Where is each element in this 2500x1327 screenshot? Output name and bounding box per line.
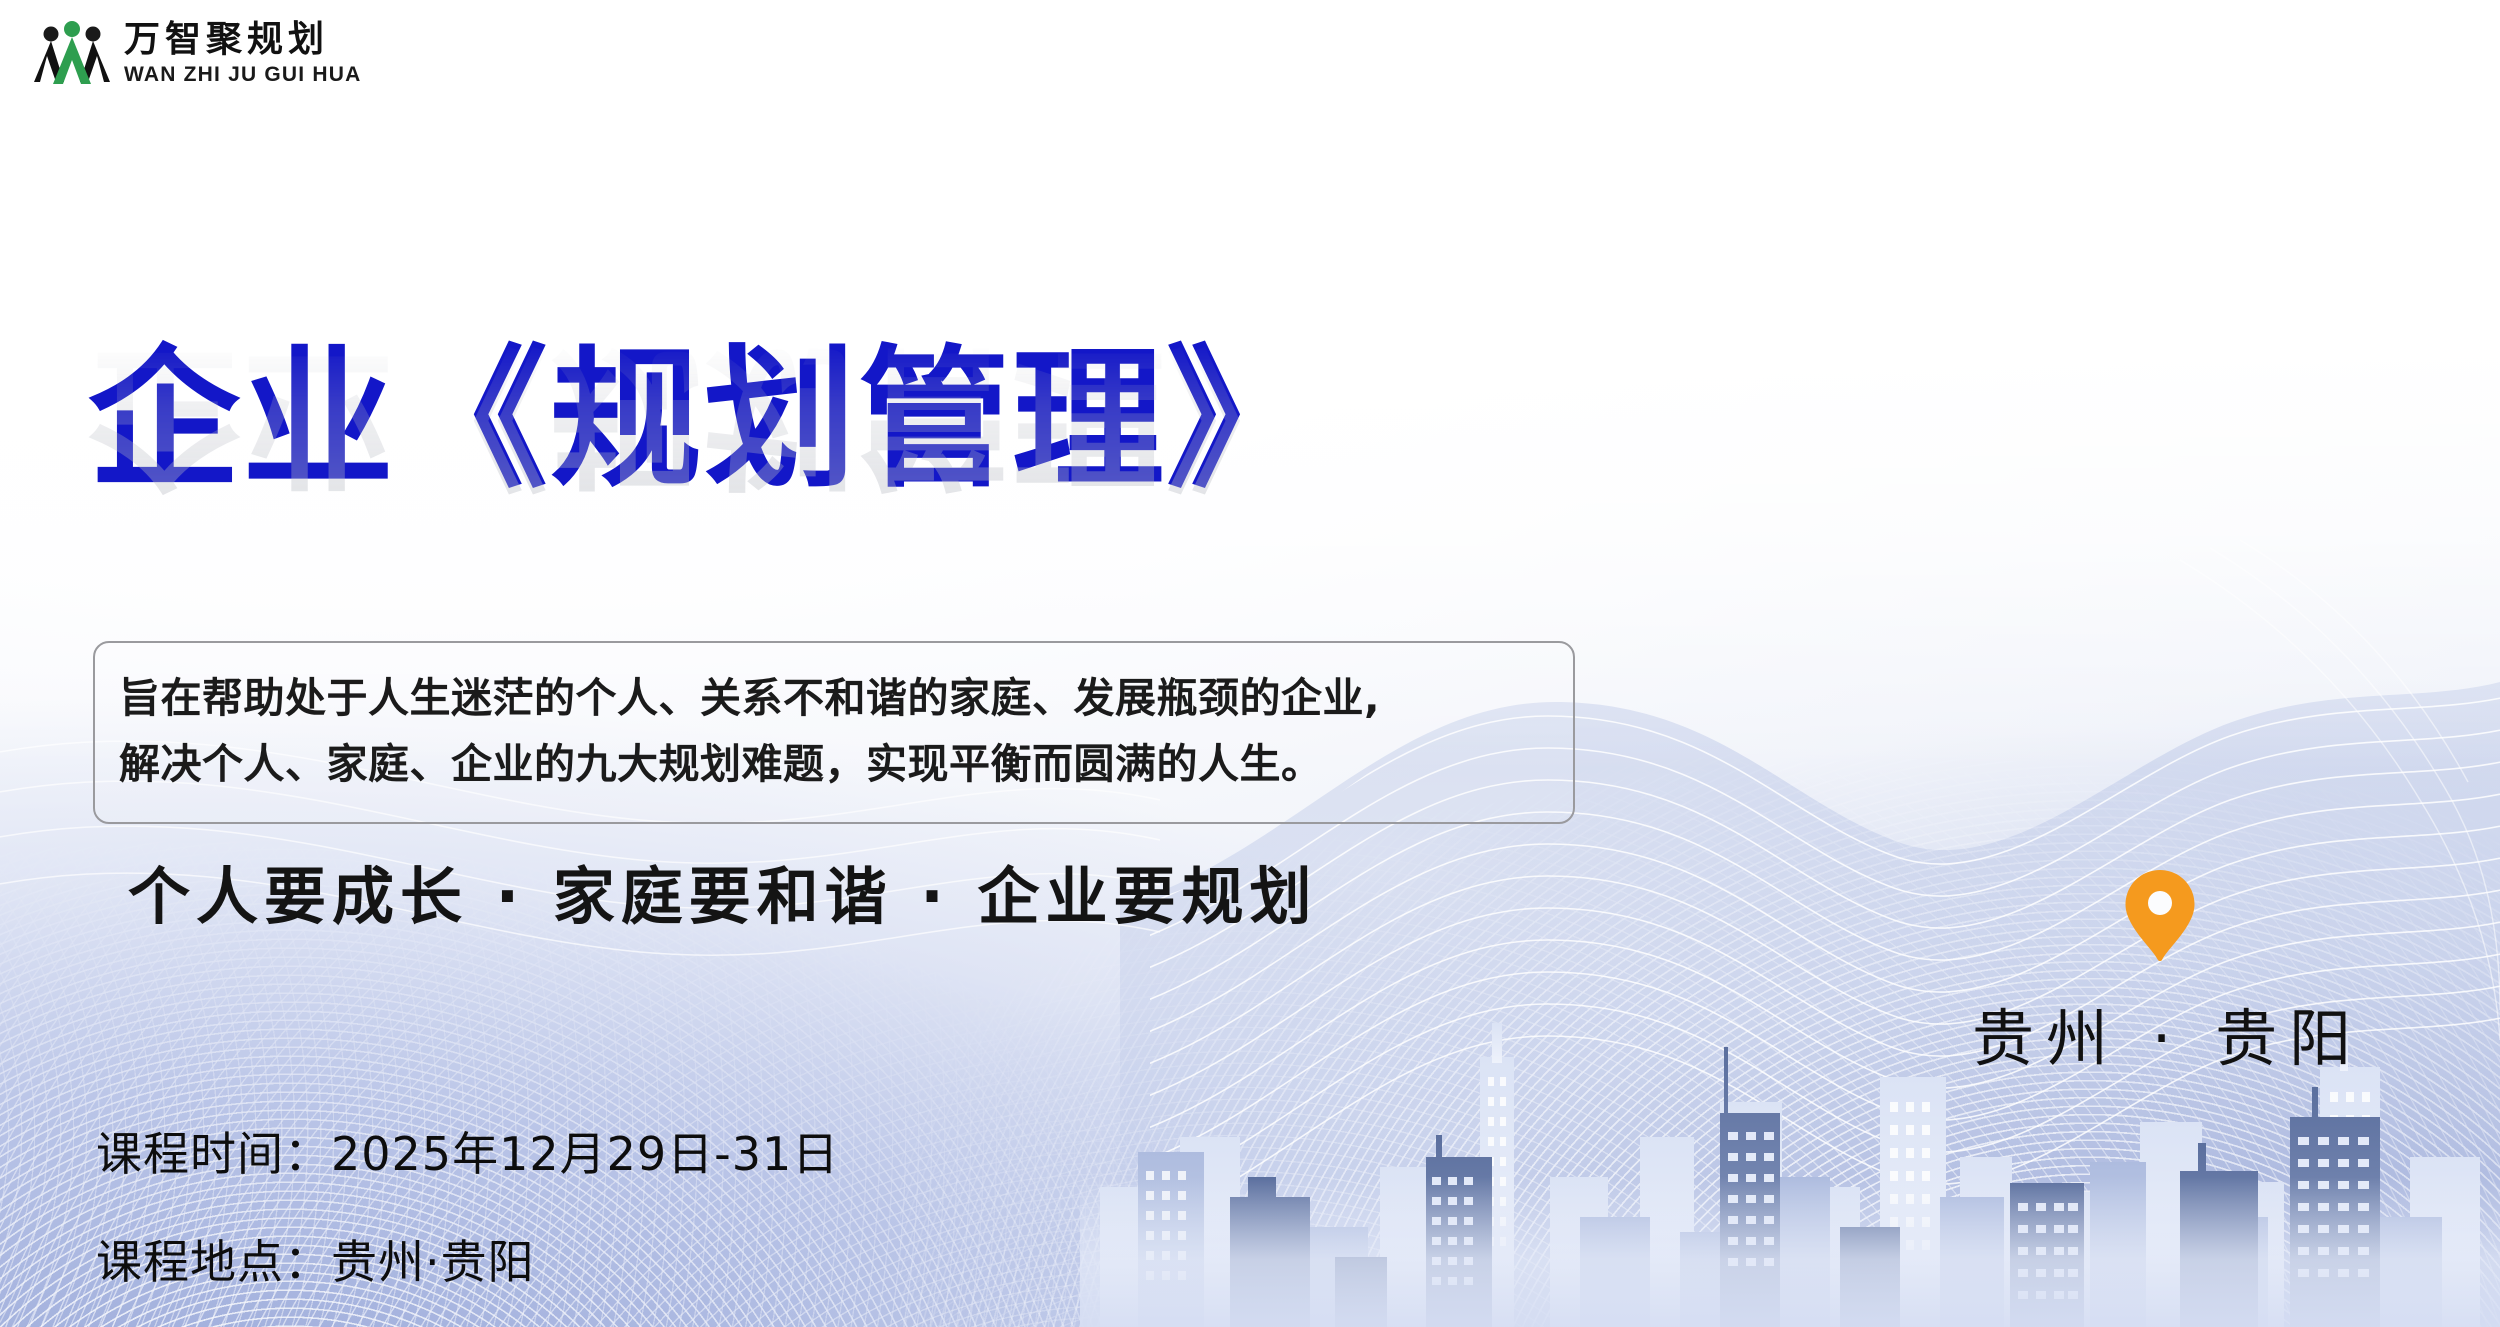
location-block: 贵州 · 贵阳 [1960,868,2360,1078]
brand-name-pinyin: WAN ZHI JU GUI HUA [124,64,361,85]
location-label: 贵州 · 贵阳 [1960,988,2360,1078]
hero-title-block: 企业《规划管理》 企业《规划管理》 [88,330,1320,685]
description-line-2: 解决个人、家庭、企业的九大规划难题，实现平衡而圆满的人生。 [119,731,1549,797]
description-line-1: 旨在帮助处于人生迷茫的个人、关系不和谐的家庭、发展瓶颈的企业, [119,665,1549,731]
poster-canvas: 万智聚规划 WAN ZHI JU GUI HUA 企业《规划管理》 企业《规划管… [0,0,2500,1327]
page-title-reflection: 企业《规划管理》 [88,326,1320,505]
three-people-logo-icon [34,18,110,88]
course-time-row: 课程时间：2025年12月29日-31日 [96,1118,839,1184]
course-place-row: 课程地点：贵州·贵阳 [96,1226,839,1292]
course-info-block: 课程时间：2025年12月29日-31日 课程地点：贵州·贵阳 [96,1118,839,1292]
brand-logo[interactable]: 万智聚规划 WAN ZHI JU GUI HUA [34,18,361,88]
brand-logo-text: 万智聚规划 WAN ZHI JU GUI HUA [124,21,361,85]
description-box: 旨在帮助处于人生迷茫的个人、关系不和谐的家庭、发展瓶颈的企业, 解决个人、家庭、… [93,641,1575,824]
slogan-text: 个人要成长 · 家庭要和谐 · 企业要规划 [128,846,1317,936]
brand-name-cn: 万智聚规划 [124,21,361,57]
map-pin-icon [2122,868,2198,962]
